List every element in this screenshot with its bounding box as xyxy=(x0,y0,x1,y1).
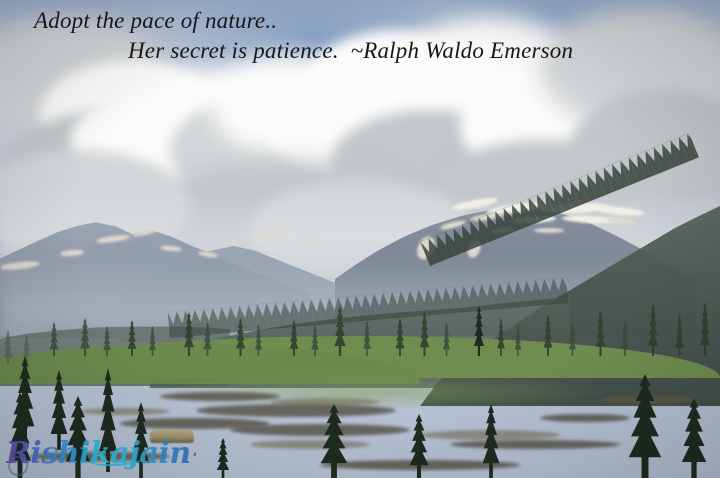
tree-silhouette-icon xyxy=(618,320,632,356)
tree-silhouette-icon xyxy=(644,304,662,356)
watermark-suffix: com xyxy=(215,436,284,471)
tree-silhouette-icon xyxy=(330,306,350,356)
conifer-tree xyxy=(592,310,609,356)
conifer-tree xyxy=(232,318,249,356)
quote-overlay: Adopt the pace of nature.. Her secret is… xyxy=(0,6,720,66)
tree-silhouette-icon xyxy=(616,374,674,478)
tree-silhouette-icon xyxy=(180,312,198,356)
conifer-tree xyxy=(672,314,687,356)
watermark-separator: ~ xyxy=(191,436,216,471)
conifer-tree xyxy=(618,320,632,356)
tree-silhouette-icon xyxy=(540,314,556,356)
tree-silhouette-icon xyxy=(440,322,453,356)
conifer-tree xyxy=(392,318,408,356)
tree-silhouette-icon xyxy=(100,326,114,356)
tree-silhouette-icon xyxy=(146,326,159,356)
conifer-tree xyxy=(46,322,62,356)
tree-silhouette-icon xyxy=(360,320,374,356)
tree-silhouette-icon xyxy=(402,414,436,478)
quote-author: ~Ralph Waldo Emerson xyxy=(339,38,574,63)
tree-silhouette-icon xyxy=(286,320,302,356)
conifer-tree xyxy=(76,318,94,356)
quote-line-1: Adopt the pace of nature.. xyxy=(0,6,720,36)
tree-silhouette-icon xyxy=(252,324,265,356)
conifer-tree xyxy=(470,306,488,356)
conifer-tree xyxy=(672,398,716,478)
tree-silhouette-icon xyxy=(416,312,433,356)
tree-silhouette-icon xyxy=(232,318,249,356)
quote-line-2: Her secret is patience. ~Ralph Waldo Eme… xyxy=(0,36,720,66)
conifer-tree xyxy=(402,414,436,478)
conifer-tree xyxy=(124,320,140,356)
tree-silhouette-icon xyxy=(566,322,579,356)
conifer-tree xyxy=(200,322,215,356)
dirt-patch xyxy=(160,392,280,401)
conifer-tree xyxy=(512,324,524,356)
tree-silhouette-icon xyxy=(672,398,716,478)
tree-silhouette-icon xyxy=(46,322,62,356)
conifer-tree xyxy=(330,306,350,356)
tree-silhouette-icon xyxy=(672,314,687,356)
tree-silhouette-icon xyxy=(470,306,488,356)
tree-silhouette-icon xyxy=(392,318,408,356)
conifer-tree xyxy=(616,374,674,478)
dirt-patch xyxy=(196,404,396,417)
tree-silhouette-icon xyxy=(512,324,524,356)
tree-silhouette-icon xyxy=(308,324,322,356)
conifer-tree xyxy=(308,324,322,356)
conifer-tree xyxy=(360,320,374,356)
conifer-tree xyxy=(644,304,662,356)
conifer-tree xyxy=(416,312,433,356)
conifer-tree xyxy=(146,326,159,356)
quote-line-2-text: Her secret is patience. xyxy=(128,38,339,63)
conifer-tree xyxy=(180,312,198,356)
conifer-tree xyxy=(566,322,579,356)
watermark-seal-icon xyxy=(8,456,28,476)
conifer-tree xyxy=(696,302,714,356)
photo-canvas: Adopt the pace of nature.. Her secret is… xyxy=(0,0,720,478)
conifer-tree xyxy=(476,404,506,478)
tree-silhouette-icon xyxy=(696,302,714,356)
conifer-tree xyxy=(252,324,265,356)
snow-patch xyxy=(534,228,564,233)
tree-silhouette-icon xyxy=(476,404,506,478)
tree-silhouette-icon xyxy=(76,318,94,356)
conifer-tree xyxy=(100,326,114,356)
conifer-tree xyxy=(286,320,302,356)
tree-silhouette-icon xyxy=(200,322,215,356)
conifer-tree xyxy=(540,314,556,356)
conifer-tree xyxy=(494,318,508,356)
conifer-tree xyxy=(310,404,358,478)
tree-silhouette-icon xyxy=(124,320,140,356)
conifer-tree xyxy=(440,322,453,356)
tree-silhouette-icon xyxy=(592,310,609,356)
tree-silhouette-icon xyxy=(494,318,508,356)
tree-silhouette-icon xyxy=(310,404,358,478)
